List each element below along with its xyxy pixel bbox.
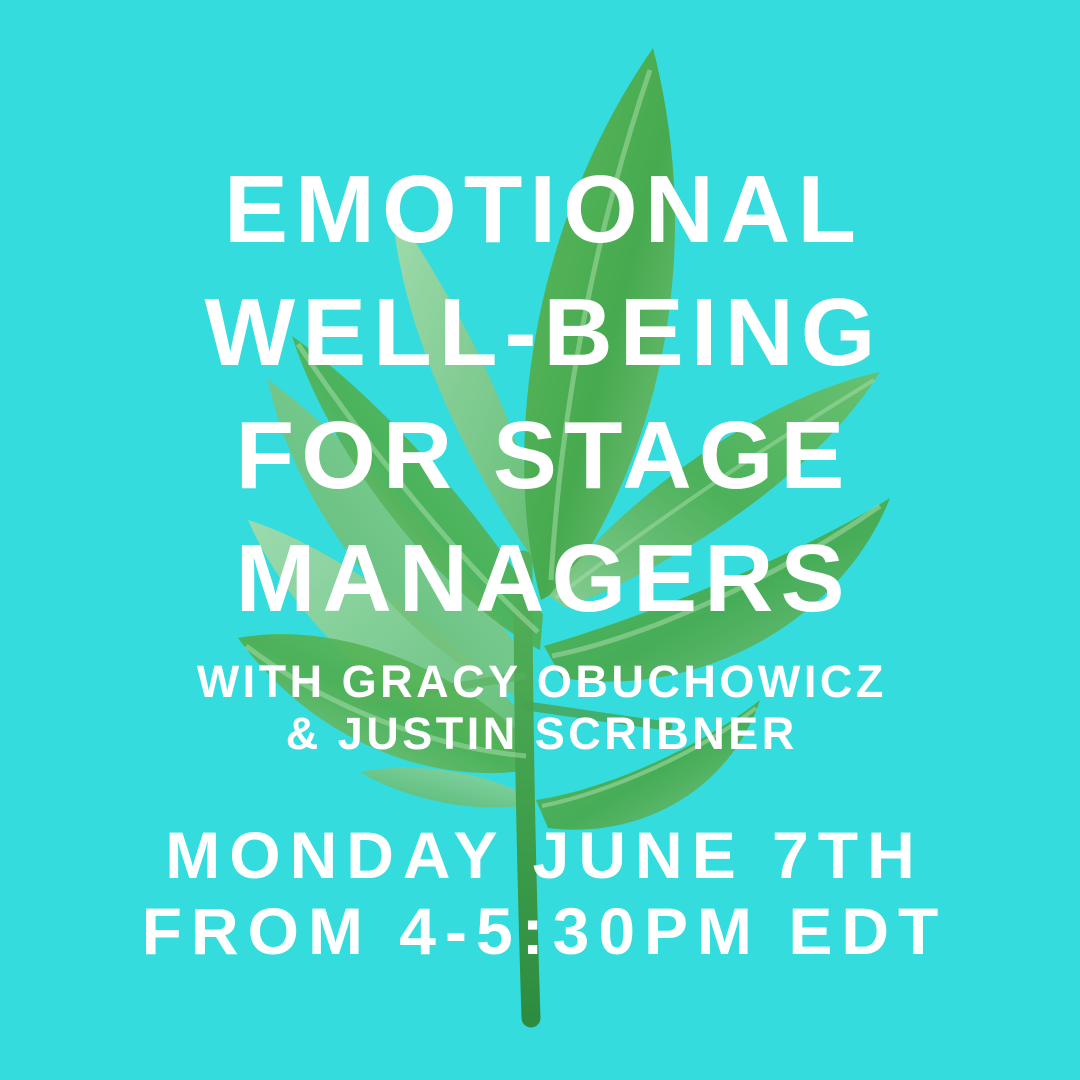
- presenter-line-1: WITH GRACY OBUCHOWICZ: [0, 659, 1080, 704]
- event-time: FROM 4-5:30PM EDT: [0, 898, 1080, 964]
- title-line-4: MANAGERS: [0, 531, 1080, 627]
- title-line-2: WELL-BEING: [0, 285, 1080, 381]
- presenter-line-2: & JUSTIN SCRIBNER: [0, 711, 1080, 756]
- poster-text-layer: EMOTIONAL WELL-BEING FOR STAGE MANAGERS …: [0, 0, 1080, 1080]
- title-line-1: EMOTIONAL: [0, 162, 1080, 258]
- event-date: MONDAY JUNE 7TH: [0, 822, 1080, 888]
- title-line-3: FOR STAGE: [0, 408, 1080, 504]
- event-poster: EMOTIONAL WELL-BEING FOR STAGE MANAGERS …: [0, 0, 1080, 1080]
